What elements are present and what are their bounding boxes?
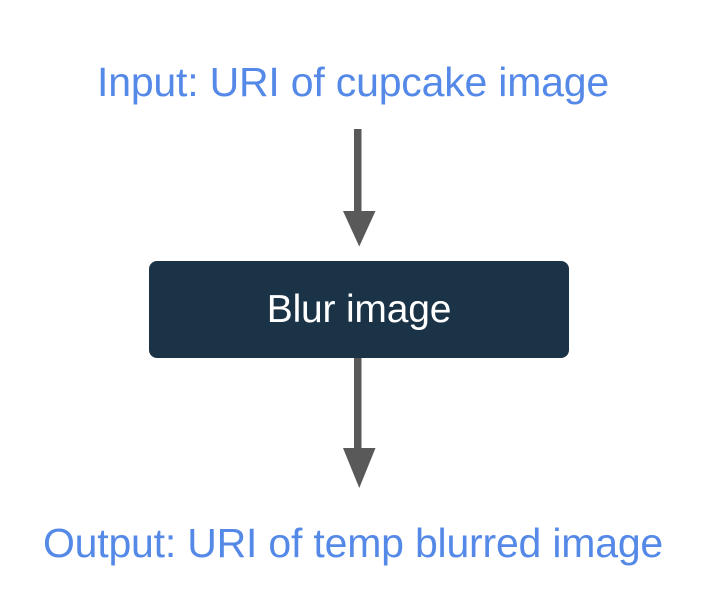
arrow-input-to-process — [343, 129, 376, 247]
input-label: Input: URI of cupcake image — [0, 62, 706, 103]
process-node-label: Blur image — [267, 290, 451, 329]
arrow-process-to-output — [343, 358, 376, 488]
process-node-blur-image[interactable]: Blur image — [149, 261, 569, 358]
flowchart-canvas: Input: URI of cupcake image Blur image O… — [0, 0, 706, 612]
output-label: Output: URI of temp blurred image — [0, 523, 706, 564]
